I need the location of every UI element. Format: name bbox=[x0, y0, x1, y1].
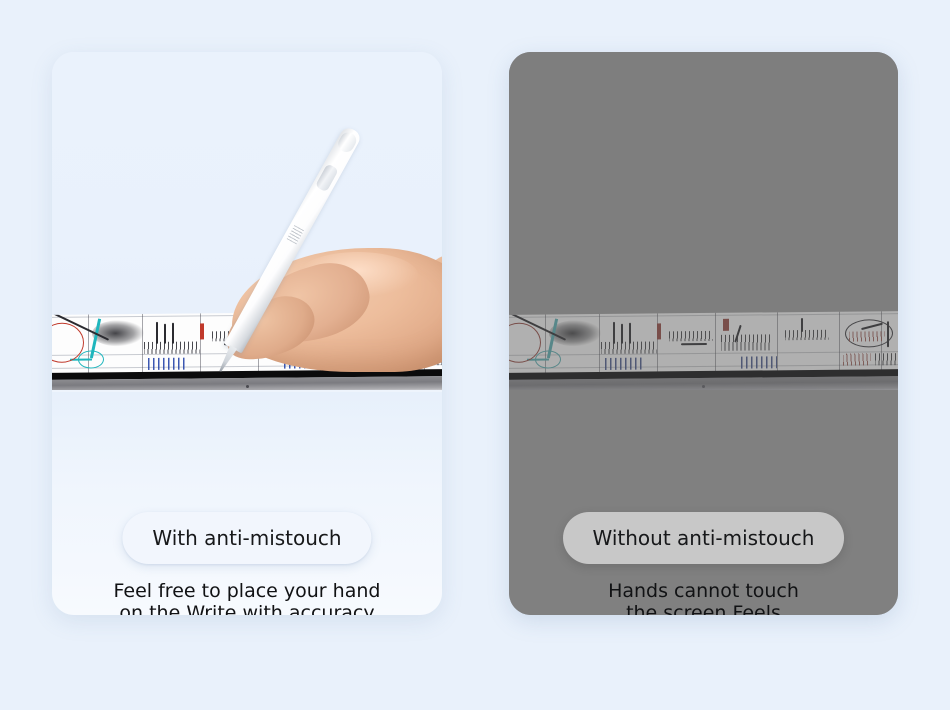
badge-with-anti-mistouch[interactable]: With anti-mistouch bbox=[122, 512, 371, 564]
caption-right: Hands cannot touch the screen Feels jerk… bbox=[509, 580, 898, 615]
caption-right-line-2: the screen Feels bbox=[509, 602, 898, 615]
caption-left-line-2: on the Write with accuracy bbox=[52, 602, 442, 615]
hand-and-stylus-left bbox=[52, 52, 442, 390]
badge-label-right: Without anti-mistouch bbox=[593, 526, 815, 550]
photo-without-anti-mistouch bbox=[509, 52, 898, 390]
stylus-button-left bbox=[315, 163, 339, 192]
comparison-stage: With anti-mistouch Feel free to place yo… bbox=[0, 0, 950, 710]
caption-left: Feel free to place your hand on the Writ… bbox=[52, 580, 442, 615]
badge-label-left: With anti-mistouch bbox=[152, 526, 341, 550]
caption-area-left: With anti-mistouch Feel free to place yo… bbox=[52, 392, 442, 615]
stylus-tip-left bbox=[217, 345, 238, 373]
panel-with-anti-mistouch[interactable]: With anti-mistouch Feel free to place yo… bbox=[52, 52, 442, 615]
stylus-brand-mark-left bbox=[287, 225, 304, 244]
stylus-cap-left bbox=[335, 130, 359, 155]
caption-left-line-1: Feel free to place your hand bbox=[52, 580, 442, 602]
photo-with-anti-mistouch bbox=[52, 52, 442, 390]
badge-without-anti-mistouch[interactable]: Without anti-mistouch bbox=[563, 512, 845, 564]
panel-without-anti-mistouch[interactable]: Without anti-mistouch Hands cannot touch… bbox=[509, 52, 898, 615]
caption-right-line-1: Hands cannot touch bbox=[509, 580, 898, 602]
hand-and-stylus-right bbox=[509, 52, 898, 390]
caption-area-right: Without anti-mistouch Hands cannot touch… bbox=[509, 392, 898, 615]
